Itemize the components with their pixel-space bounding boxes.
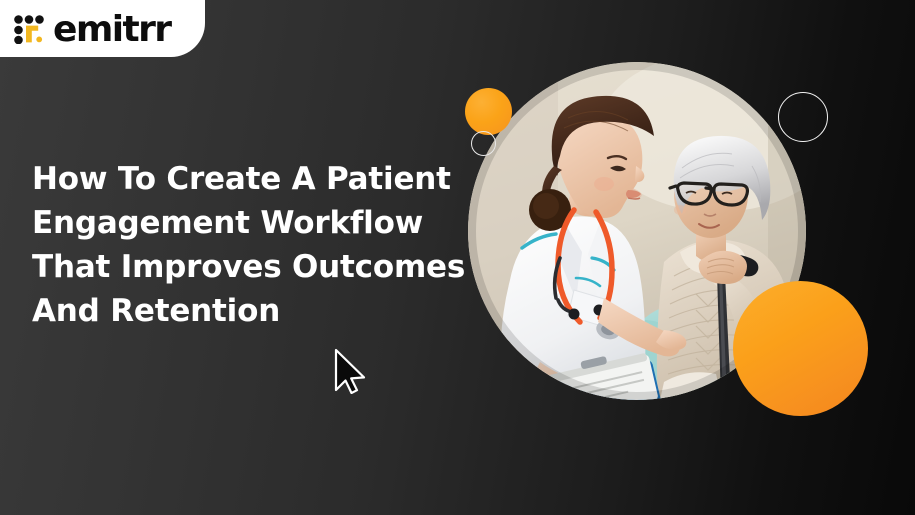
small-outline-circle-decoration — [471, 131, 496, 156]
hero-banner: emitrr How To Create A Patient Engagemen… — [0, 0, 915, 515]
logo-pill[interactable]: emitrr — [0, 0, 205, 57]
headline-line-3: That Improves Outcomes — [32, 245, 452, 289]
mouse-pointer-icon — [333, 348, 367, 394]
headline-line-4: And Retention — [32, 289, 452, 333]
headline-line-1: How To Create A Patient — [32, 157, 452, 201]
page-title: How To Create A Patient Engagement Workf… — [32, 157, 452, 333]
headline-line-2: Engagement Workflow — [32, 201, 452, 245]
large-outline-circle-decoration — [778, 92, 828, 142]
logo-wordmark: emitrr — [53, 12, 170, 48]
brand-logo[interactable]: emitrr — [0, 11, 170, 47]
emitrr-dot-grid-icon — [14, 15, 44, 44]
orange-blob-decoration — [733, 281, 868, 416]
orange-dot-decoration — [465, 88, 512, 135]
